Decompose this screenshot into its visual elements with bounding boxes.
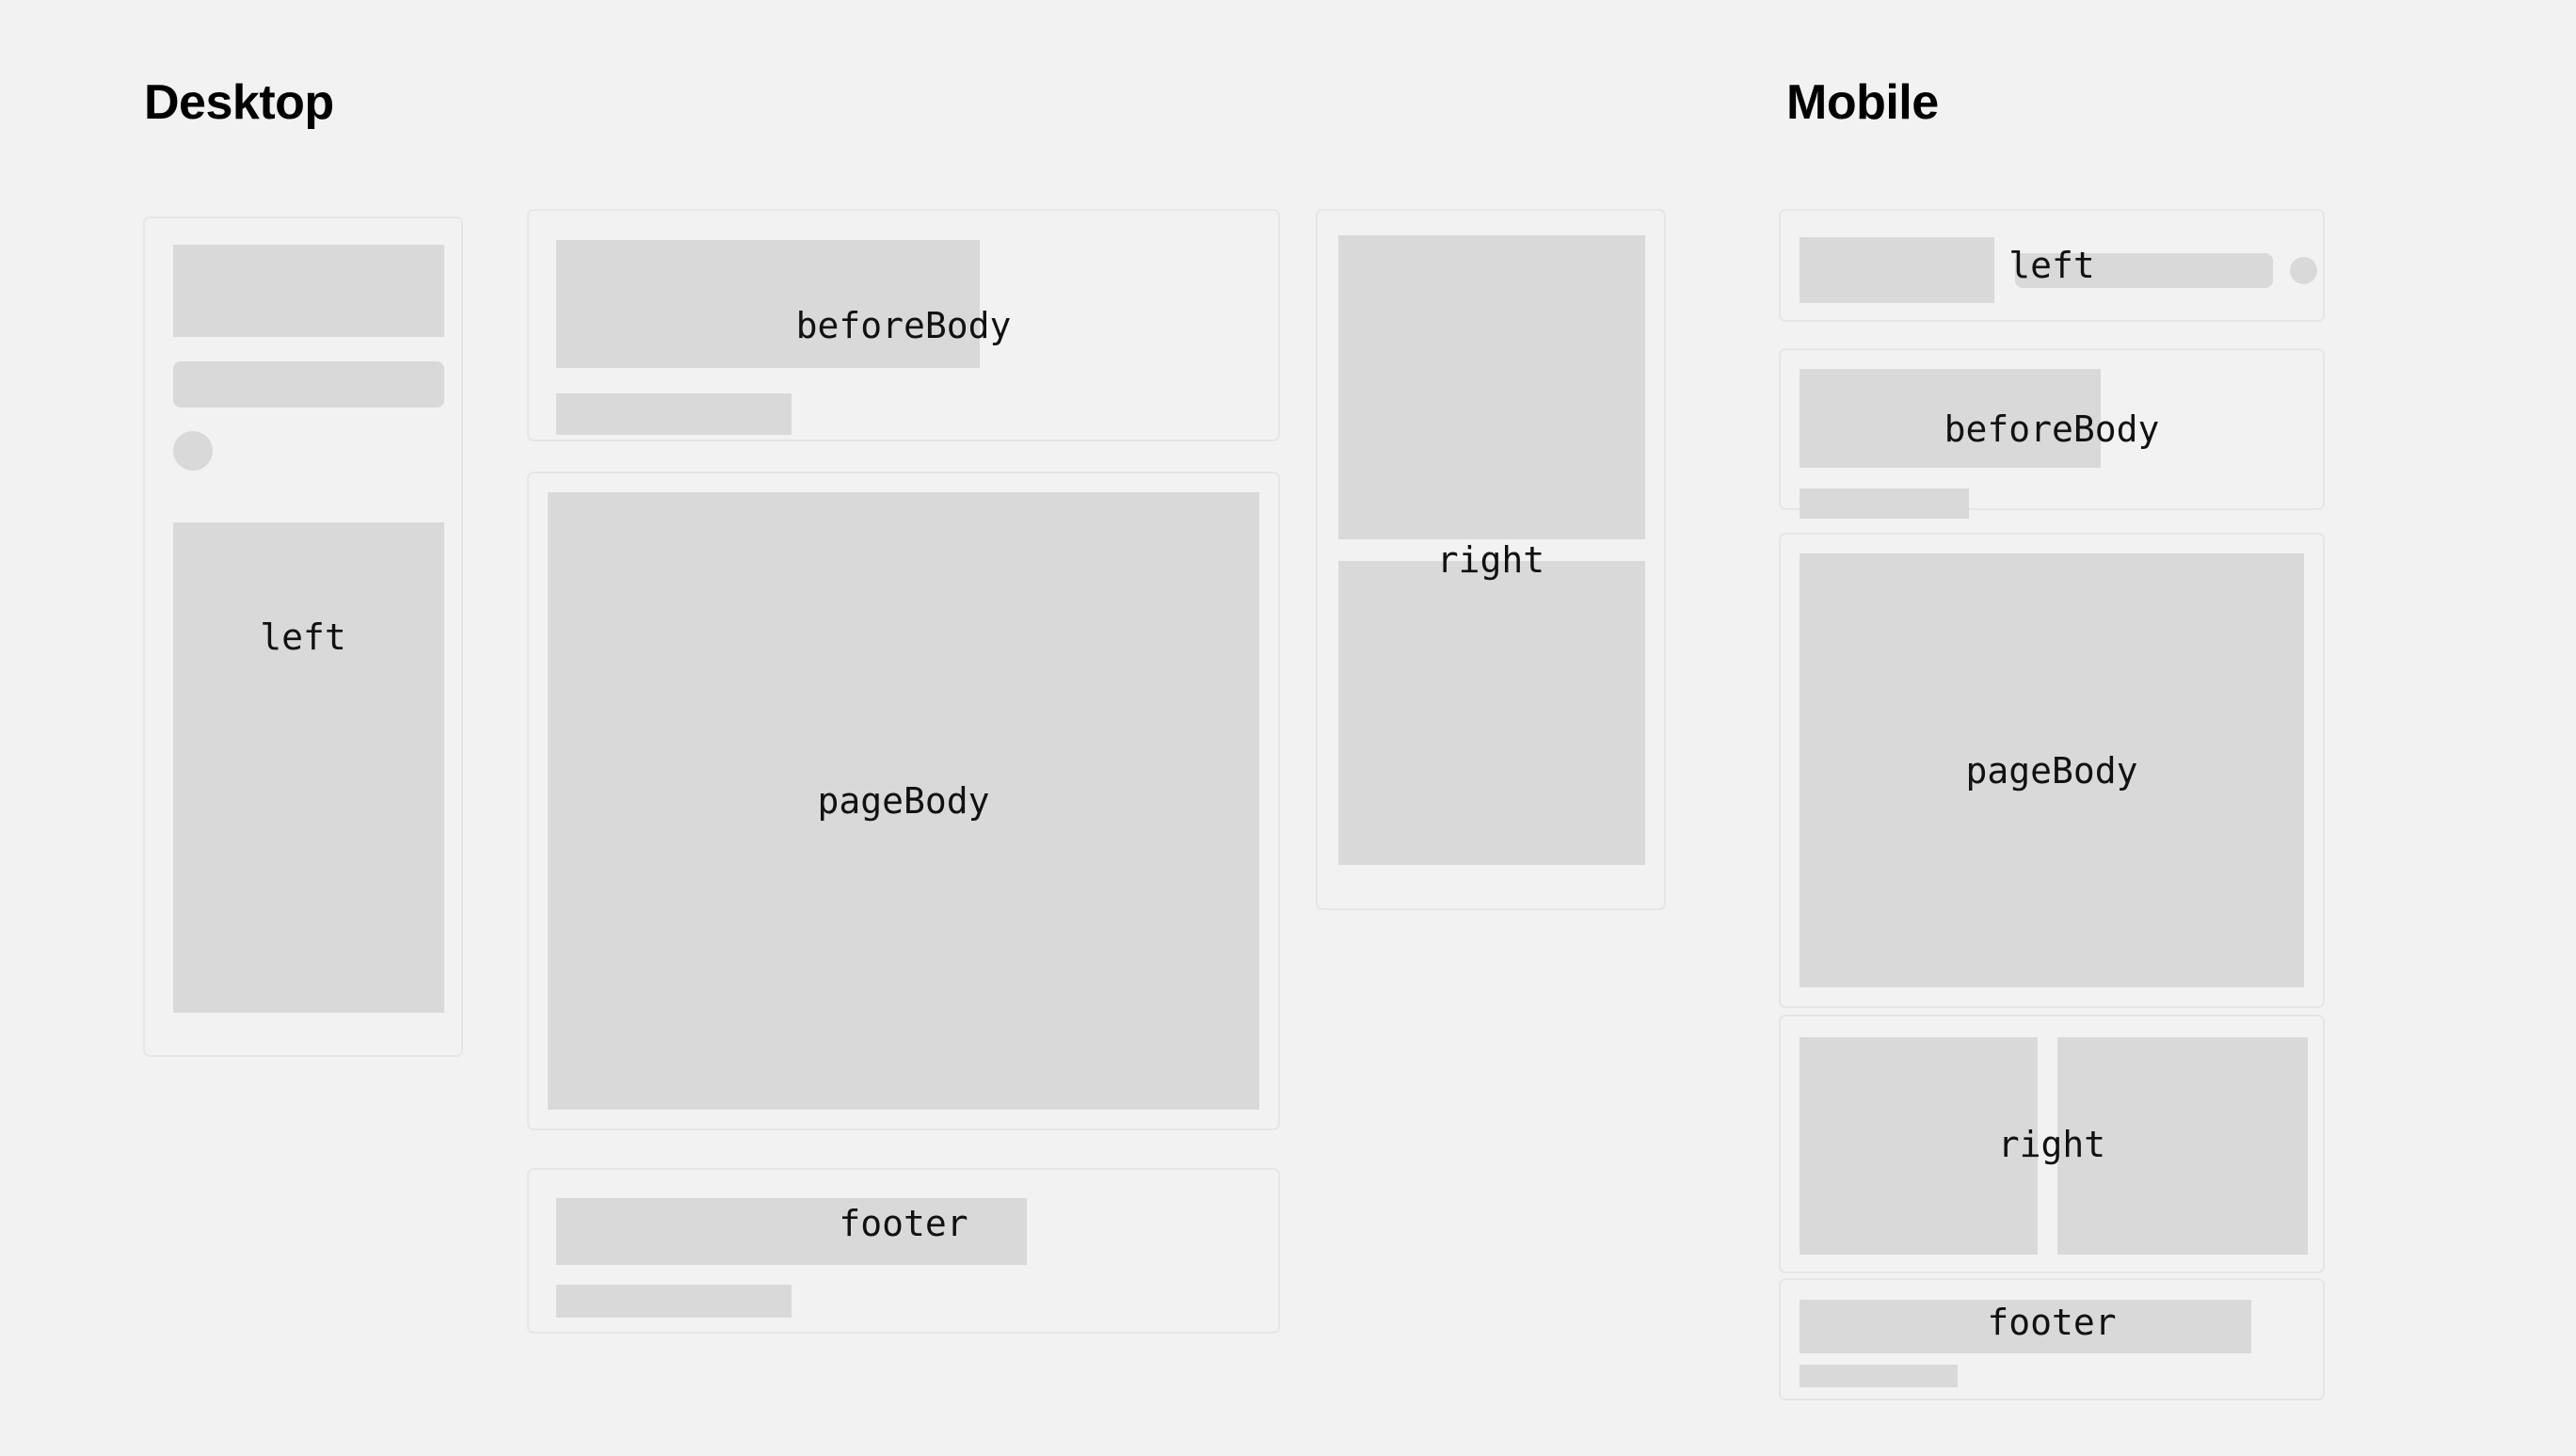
mobile-footer-slot-panel[interactable]	[1779, 1278, 2325, 1400]
skeleton-bar-footer-secondary	[1800, 1365, 1958, 1387]
skeleton-block-footer-primary	[556, 1198, 1027, 1265]
layout-preview-canvas: Desktop left beforeBody pageBody footer …	[0, 0, 2576, 1456]
skeleton-block-hero	[556, 240, 980, 368]
desktop-footer-slot-panel[interactable]	[527, 1168, 1280, 1334]
section-title-mobile: Mobile	[1786, 78, 1939, 127]
skeleton-block-footer-primary	[1800, 1300, 2251, 1353]
skeleton-block-hero	[1800, 369, 2101, 468]
section-title-desktop: Desktop	[144, 78, 334, 127]
skeleton-block-content	[1800, 553, 2304, 987]
skeleton-block-right-column-a	[1800, 1037, 2038, 1255]
skeleton-block-header	[173, 245, 444, 337]
skeleton-block-right-top	[1338, 235, 1645, 539]
skeleton-block-right-bottom	[1338, 561, 1645, 865]
mobile-right-slot-panel[interactable]	[1779, 1015, 2325, 1273]
mobile-beforebody-slot-panel[interactable]	[1779, 348, 2325, 510]
skeleton-bar-caption	[1800, 488, 1969, 519]
avatar-icon	[2290, 257, 2317, 284]
skeleton-block-logo	[1800, 237, 1994, 303]
mobile-pagebody-slot-panel[interactable]	[1779, 533, 2325, 1008]
skeleton-bar-searchbar	[2015, 253, 2273, 288]
skeleton-bar-footer-secondary	[556, 1285, 792, 1318]
avatar-icon	[173, 431, 213, 471]
skeleton-block-content	[548, 492, 1259, 1110]
skeleton-bar-caption	[556, 393, 792, 435]
desktop-beforebody-slot-panel[interactable]	[527, 209, 1280, 441]
desktop-pagebody-slot-panel[interactable]	[527, 472, 1280, 1130]
skeleton-bar-nav	[173, 361, 444, 408]
skeleton-block-body	[173, 522, 444, 1013]
mobile-left-slot-panel[interactable]	[1779, 209, 2325, 322]
skeleton-block-right-column-b	[2057, 1037, 2308, 1255]
desktop-right-slot-panel[interactable]	[1316, 209, 1666, 910]
desktop-left-slot-panel[interactable]	[143, 216, 463, 1057]
